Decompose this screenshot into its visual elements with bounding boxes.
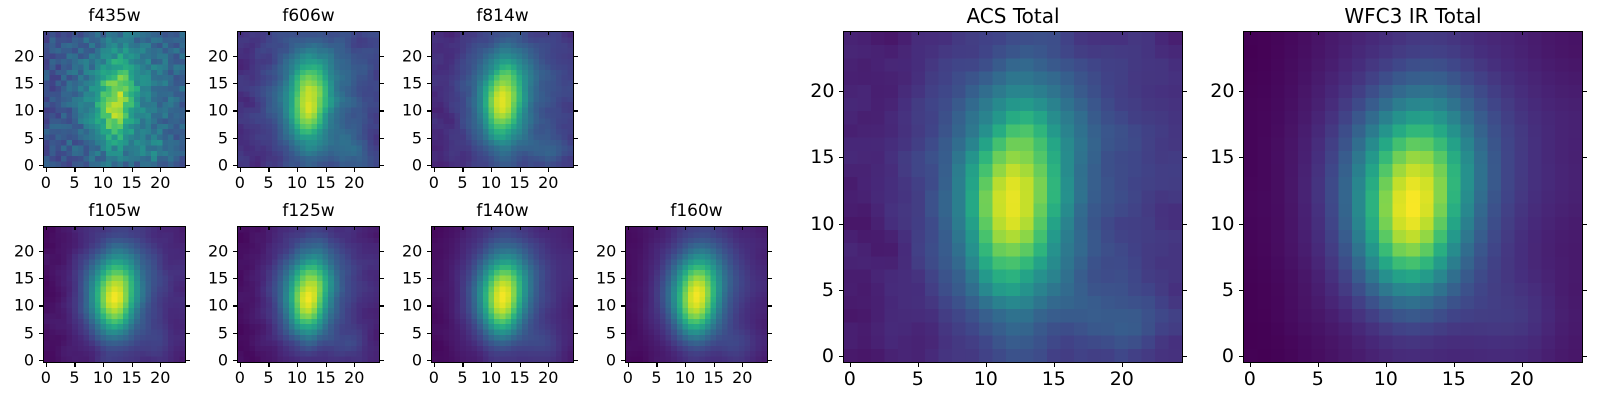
xticklabel-f814w-15: 15 (509, 173, 529, 192)
ytick-right-f125w-5 (380, 333, 384, 334)
ytick-right-f435w-10 (186, 110, 190, 111)
ytick-f814w-15 (427, 83, 431, 84)
xticklabel-f814w-20: 20 (538, 173, 558, 192)
ytick-f814w-10 (427, 110, 431, 111)
panel-title-wfc3-ir-total: WFC3 IR Total (1243, 4, 1583, 28)
ytick-right-f160w-10 (768, 305, 772, 306)
xtick-top-f435w-10 (103, 31, 104, 35)
xticklabel-f140w-10: 10 (481, 368, 501, 387)
yticklabel-f125w-15: 15 (208, 269, 228, 288)
xticklabel-f814w-10: 10 (481, 173, 501, 192)
figure-canvas: f435w0055101015152020f606w00551010151520… (0, 0, 1600, 400)
ytick-f606w-5 (233, 138, 237, 139)
panel-title-f606w: f606w (237, 6, 380, 26)
yticklabel-f125w-10: 10 (208, 296, 228, 315)
xtick-top-f105w-0 (46, 226, 47, 230)
ytick-right-f814w-20 (574, 56, 578, 57)
yticklabel-f105w-5: 5 (14, 323, 34, 342)
axes-f125w[interactable] (237, 226, 380, 363)
xticklabel-f160w-10: 10 (675, 368, 695, 387)
ytick-right-acs-total-10 (1183, 224, 1187, 225)
ytick-right-acs-total-15 (1183, 157, 1187, 158)
xtick-f125w-5 (268, 363, 269, 367)
xtick-top-f140w-0 (434, 226, 435, 230)
yticklabel-f606w-20: 20 (208, 46, 228, 65)
xtick-f105w-15 (132, 363, 133, 367)
xtick-top-f606w-0 (240, 31, 241, 35)
xtick-top-acs-total-0 (850, 31, 851, 35)
ytick-right-wfc3-ir-total-0 (1583, 356, 1587, 357)
xticklabel-f435w-5: 5 (69, 173, 79, 192)
ytick-f140w-0 (427, 360, 431, 361)
yticklabel-wfc3-ir-total-15: 15 (1210, 146, 1234, 168)
ytick-f140w-10 (427, 305, 431, 306)
ytick-f105w-20 (39, 251, 43, 252)
xtick-top-f140w-15 (520, 226, 521, 230)
xticklabel-f814w-5: 5 (457, 173, 467, 192)
yticklabel-f435w-15: 15 (14, 74, 34, 93)
ytick-right-f105w-10 (186, 305, 190, 306)
xtick-top-f140w-5 (462, 226, 463, 230)
xtick-top-f606w-15 (326, 31, 327, 35)
xticklabel-f140w-0: 0 (429, 368, 439, 387)
yticklabel-f606w-15: 15 (208, 74, 228, 93)
xtick-top-f105w-5 (74, 226, 75, 230)
axes-f140w[interactable] (431, 226, 574, 363)
ytick-right-wfc3-ir-total-10 (1583, 224, 1587, 225)
ytick-f140w-15 (427, 278, 431, 279)
ytick-right-f435w-15 (186, 83, 190, 84)
panel-f160w: f160w0055101015152020 (0, 0, 1600, 400)
xtick-top-f160w-5 (656, 226, 657, 230)
ytick-acs-total-5 (839, 290, 843, 291)
axes-f160w[interactable] (625, 226, 768, 363)
panel-title-f105w: f105w (43, 201, 186, 221)
xtick-f105w-20 (160, 363, 161, 367)
yticklabel-f814w-0: 0 (402, 156, 422, 175)
xtick-f140w-0 (434, 363, 435, 367)
xtick-top-wfc3-ir-total-15 (1454, 31, 1455, 35)
xtick-top-wfc3-ir-total-0 (1250, 31, 1251, 35)
ytick-wfc3-ir-total-10 (1239, 224, 1243, 225)
xtick-top-acs-total-15 (1054, 31, 1055, 35)
xtick-top-f814w-5 (462, 31, 463, 35)
xticklabel-wfc3-ir-total-5: 5 (1312, 368, 1324, 390)
ytick-f160w-15 (621, 278, 625, 279)
axes-f814w[interactable] (431, 31, 574, 168)
yticklabel-f105w-20: 20 (14, 241, 34, 260)
ytick-right-f606w-10 (380, 110, 384, 111)
ytick-acs-total-0 (839, 356, 843, 357)
panel-wfc3-ir-total: WFC3 IR Total0055101015152020 (0, 0, 1600, 400)
yticklabel-f606w-5: 5 (208, 128, 228, 147)
ytick-f125w-0 (233, 360, 237, 361)
ytick-f105w-0 (39, 360, 43, 361)
xtick-f435w-20 (160, 168, 161, 172)
xtick-top-f814w-0 (434, 31, 435, 35)
xtick-f125w-20 (354, 363, 355, 367)
xtick-f814w-20 (548, 168, 549, 172)
ytick-f814w-0 (427, 165, 431, 166)
xtick-wfc3-ir-total-20 (1522, 363, 1523, 367)
ytick-acs-total-20 (839, 91, 843, 92)
xticklabel-f160w-20: 20 (732, 368, 752, 387)
xticklabel-f105w-10: 10 (93, 368, 113, 387)
xtick-f125w-10 (297, 363, 298, 367)
xtick-f435w-5 (74, 168, 75, 172)
yticklabel-f606w-0: 0 (208, 156, 228, 175)
heatmap-f606w (238, 32, 379, 167)
xticklabel-f140w-15: 15 (509, 368, 529, 387)
ytick-f435w-0 (39, 165, 43, 166)
panel-title-f435w: f435w (43, 6, 186, 26)
xtick-acs-total-0 (850, 363, 851, 367)
xticklabel-f435w-0: 0 (41, 173, 51, 192)
ytick-right-f140w-15 (574, 278, 578, 279)
xtick-top-f160w-0 (628, 226, 629, 230)
xtick-f140w-20 (548, 363, 549, 367)
heatmap-f125w (238, 227, 379, 362)
yticklabel-f435w-0: 0 (14, 156, 34, 175)
xtick-top-wfc3-ir-total-10 (1386, 31, 1387, 35)
xtick-f125w-15 (326, 363, 327, 367)
xtick-f814w-0 (434, 168, 435, 172)
heatmap-f140w (432, 227, 573, 362)
panel-acs-total: ACS Total0055101015152020 (0, 0, 1600, 400)
ytick-f160w-5 (621, 333, 625, 334)
xtick-f140w-15 (520, 363, 521, 367)
xticklabel-f606w-0: 0 (235, 173, 245, 192)
yticklabel-f435w-5: 5 (14, 128, 34, 147)
ytick-right-f140w-5 (574, 333, 578, 334)
xtick-wfc3-ir-total-15 (1454, 363, 1455, 367)
yticklabel-f814w-10: 10 (402, 101, 422, 120)
xtick-acs-total-10 (986, 363, 987, 367)
axes-acs-total[interactable] (843, 31, 1183, 363)
xtick-top-f814w-10 (491, 31, 492, 35)
panel-title-f125w: f125w (237, 201, 380, 221)
xtick-top-f105w-10 (103, 226, 104, 230)
ytick-f606w-20 (233, 56, 237, 57)
xtick-wfc3-ir-total-0 (1250, 363, 1251, 367)
yticklabel-wfc3-ir-total-20: 20 (1210, 80, 1234, 102)
ytick-right-wfc3-ir-total-15 (1583, 157, 1587, 158)
ytick-right-f160w-15 (768, 278, 772, 279)
ytick-f606w-15 (233, 83, 237, 84)
xtick-f160w-20 (742, 363, 743, 367)
ytick-f125w-20 (233, 251, 237, 252)
yticklabel-f814w-15: 15 (402, 74, 422, 93)
xtick-top-acs-total-20 (1122, 31, 1123, 35)
xticklabel-f606w-15: 15 (315, 173, 335, 192)
ytick-right-f435w-5 (186, 138, 190, 139)
yticklabel-f814w-5: 5 (402, 128, 422, 147)
ytick-right-f814w-5 (574, 138, 578, 139)
yticklabel-f140w-10: 10 (402, 296, 422, 315)
ytick-right-f125w-0 (380, 360, 384, 361)
ytick-f606w-10 (233, 110, 237, 111)
xtick-wfc3-ir-total-5 (1318, 363, 1319, 367)
xtick-f606w-20 (354, 168, 355, 172)
xtick-top-f814w-15 (520, 31, 521, 35)
xticklabel-f435w-20: 20 (150, 173, 170, 192)
yticklabel-f814w-20: 20 (402, 46, 422, 65)
yticklabel-wfc3-ir-total-5: 5 (1210, 279, 1234, 301)
ytick-right-f125w-15 (380, 278, 384, 279)
heatmap-wfc3-ir-total (1244, 32, 1582, 362)
xtick-f125w-0 (240, 363, 241, 367)
ytick-right-acs-total-20 (1183, 91, 1187, 92)
xticklabel-f814w-0: 0 (429, 173, 439, 192)
panel-title-f814w: f814w (431, 6, 574, 26)
xtick-top-f606w-20 (354, 31, 355, 35)
xtick-top-f160w-20 (742, 226, 743, 230)
xtick-f435w-10 (103, 168, 104, 172)
yticklabel-f160w-10: 10 (596, 296, 616, 315)
xtick-wfc3-ir-total-10 (1386, 363, 1387, 367)
ytick-f105w-10 (39, 305, 43, 306)
panel-f435w: f435w0055101015152020 (0, 0, 1600, 400)
ytick-f105w-5 (39, 333, 43, 334)
xtick-top-acs-total-10 (986, 31, 987, 35)
panel-f140w: f140w0055101015152020 (0, 0, 1600, 400)
yticklabel-f606w-10: 10 (208, 101, 228, 120)
xticklabel-f105w-15: 15 (121, 368, 141, 387)
xticklabel-f435w-10: 10 (93, 173, 113, 192)
yticklabel-acs-total-10: 10 (810, 213, 834, 235)
yticklabel-acs-total-20: 20 (810, 80, 834, 102)
ytick-wfc3-ir-total-5 (1239, 290, 1243, 291)
ytick-f435w-5 (39, 138, 43, 139)
panel-title-f140w: f140w (431, 201, 574, 221)
xtick-f606w-5 (268, 168, 269, 172)
heatmap-acs-total (844, 32, 1182, 362)
panel-f125w: f125w0055101015152020 (0, 0, 1600, 400)
xtick-top-f435w-0 (46, 31, 47, 35)
xtick-f105w-0 (46, 363, 47, 367)
xticklabel-f606w-10: 10 (287, 173, 307, 192)
xtick-f105w-5 (74, 363, 75, 367)
ytick-f435w-10 (39, 110, 43, 111)
panel-f606w: f606w0055101015152020 (0, 0, 1600, 400)
yticklabel-f140w-0: 0 (402, 351, 422, 370)
xtick-f814w-5 (462, 168, 463, 172)
xticklabel-f435w-15: 15 (121, 173, 141, 192)
xtick-f140w-10 (491, 363, 492, 367)
ytick-f125w-10 (233, 305, 237, 306)
xtick-f160w-0 (628, 363, 629, 367)
xtick-acs-total-15 (1054, 363, 1055, 367)
yticklabel-acs-total-5: 5 (810, 279, 834, 301)
xticklabel-f125w-15: 15 (315, 368, 335, 387)
xtick-top-f435w-15 (132, 31, 133, 35)
xticklabel-f140w-5: 5 (457, 368, 467, 387)
ytick-acs-total-10 (839, 224, 843, 225)
yticklabel-f125w-20: 20 (208, 241, 228, 260)
xticklabel-wfc3-ir-total-10: 10 (1374, 368, 1398, 390)
xticklabel-acs-total-5: 5 (912, 368, 924, 390)
ytick-right-f140w-0 (574, 360, 578, 361)
xtick-top-f105w-15 (132, 226, 133, 230)
ytick-right-f606w-5 (380, 138, 384, 139)
axes-wfc3-ir-total[interactable] (1243, 31, 1583, 363)
xtick-f105w-10 (103, 363, 104, 367)
yticklabel-f105w-0: 0 (14, 351, 34, 370)
xticklabel-f105w-5: 5 (69, 368, 79, 387)
ytick-right-f140w-20 (574, 251, 578, 252)
ytick-wfc3-ir-total-15 (1239, 157, 1243, 158)
xticklabel-acs-total-10: 10 (974, 368, 998, 390)
xticklabel-f125w-0: 0 (235, 368, 245, 387)
xtick-f814w-15 (520, 168, 521, 172)
xtick-f606w-10 (297, 168, 298, 172)
ytick-right-acs-total-5 (1183, 290, 1187, 291)
ytick-right-f140w-10 (574, 305, 578, 306)
yticklabel-f140w-15: 15 (402, 269, 422, 288)
panel-f105w: f105w0055101015152020 (0, 0, 1600, 400)
xtick-top-f435w-20 (160, 31, 161, 35)
xtick-f814w-10 (491, 168, 492, 172)
xtick-top-f160w-10 (685, 226, 686, 230)
yticklabel-f160w-15: 15 (596, 269, 616, 288)
ytick-f140w-5 (427, 333, 431, 334)
xtick-top-f606w-5 (268, 31, 269, 35)
xtick-top-f105w-20 (160, 226, 161, 230)
xtick-top-f435w-5 (74, 31, 75, 35)
xticklabel-f140w-20: 20 (538, 368, 558, 387)
ytick-right-f814w-0 (574, 165, 578, 166)
ytick-f160w-20 (621, 251, 625, 252)
axes-f435w[interactable] (43, 31, 186, 168)
xticklabel-f160w-0: 0 (623, 368, 633, 387)
ytick-f435w-15 (39, 83, 43, 84)
xticklabel-acs-total-15: 15 (1042, 368, 1066, 390)
xtick-f606w-0 (240, 168, 241, 172)
yticklabel-f435w-20: 20 (14, 46, 34, 65)
ytick-right-f105w-15 (186, 278, 190, 279)
yticklabel-wfc3-ir-total-0: 0 (1210, 345, 1234, 367)
ytick-f105w-15 (39, 278, 43, 279)
yticklabel-f125w-0: 0 (208, 351, 228, 370)
xticklabel-f105w-0: 0 (41, 368, 51, 387)
ytick-right-f105w-0 (186, 360, 190, 361)
ytick-f140w-20 (427, 251, 431, 252)
xtick-f435w-15 (132, 168, 133, 172)
ytick-wfc3-ir-total-20 (1239, 91, 1243, 92)
ytick-right-f435w-0 (186, 165, 190, 166)
xtick-top-f125w-15 (326, 226, 327, 230)
xticklabel-f125w-5: 5 (263, 368, 273, 387)
yticklabel-f160w-0: 0 (596, 351, 616, 370)
xtick-acs-total-20 (1122, 363, 1123, 367)
ytick-right-wfc3-ir-total-5 (1583, 290, 1587, 291)
xticklabel-f160w-15: 15 (703, 368, 723, 387)
xtick-top-acs-total-5 (918, 31, 919, 35)
xtick-f160w-15 (714, 363, 715, 367)
yticklabel-f160w-20: 20 (596, 241, 616, 260)
xticklabel-acs-total-20: 20 (1110, 368, 1134, 390)
ytick-right-f160w-0 (768, 360, 772, 361)
xtick-top-f125w-20 (354, 226, 355, 230)
xticklabel-f105w-20: 20 (150, 368, 170, 387)
xticklabel-f606w-20: 20 (344, 173, 364, 192)
xtick-acs-total-5 (918, 363, 919, 367)
ytick-right-wfc3-ir-total-20 (1583, 91, 1587, 92)
heatmap-f435w (44, 32, 185, 167)
yticklabel-acs-total-0: 0 (810, 345, 834, 367)
xtick-f435w-0 (46, 168, 47, 172)
xtick-f160w-5 (656, 363, 657, 367)
heatmap-f814w (432, 32, 573, 167)
xtick-top-f140w-10 (491, 226, 492, 230)
ytick-f606w-0 (233, 165, 237, 166)
yticklabel-f435w-10: 10 (14, 101, 34, 120)
panel-title-f160w: f160w (625, 201, 768, 221)
ytick-right-f606w-15 (380, 83, 384, 84)
xticklabel-wfc3-ir-total-15: 15 (1442, 368, 1466, 390)
ytick-acs-total-15 (839, 157, 843, 158)
ytick-f814w-20 (427, 56, 431, 57)
yticklabel-f160w-5: 5 (596, 323, 616, 342)
ytick-right-f435w-20 (186, 56, 190, 57)
xticklabel-wfc3-ir-total-20: 20 (1510, 368, 1534, 390)
yticklabel-acs-total-15: 15 (810, 146, 834, 168)
xticklabel-f606w-5: 5 (263, 173, 273, 192)
ytick-right-f606w-20 (380, 56, 384, 57)
xticklabel-f125w-20: 20 (344, 368, 364, 387)
axes-f105w[interactable] (43, 226, 186, 363)
ytick-f160w-0 (621, 360, 625, 361)
xtick-f160w-10 (685, 363, 686, 367)
xtick-f606w-15 (326, 168, 327, 172)
yticklabel-wfc3-ir-total-10: 10 (1210, 213, 1234, 235)
yticklabel-f105w-15: 15 (14, 269, 34, 288)
ytick-f435w-20 (39, 56, 43, 57)
ytick-right-f814w-15 (574, 83, 578, 84)
xtick-top-f160w-15 (714, 226, 715, 230)
ytick-right-f125w-10 (380, 305, 384, 306)
xticklabel-f160w-5: 5 (651, 368, 661, 387)
heatmap-f105w (44, 227, 185, 362)
xtick-top-f606w-10 (297, 31, 298, 35)
ytick-right-f160w-5 (768, 333, 772, 334)
panel-title-acs-total: ACS Total (843, 4, 1183, 28)
ytick-right-f105w-5 (186, 333, 190, 334)
xtick-top-f125w-10 (297, 226, 298, 230)
ytick-f125w-5 (233, 333, 237, 334)
xticklabel-wfc3-ir-total-0: 0 (1244, 368, 1256, 390)
xtick-top-f140w-20 (548, 226, 549, 230)
xtick-top-f125w-5 (268, 226, 269, 230)
yticklabel-f140w-20: 20 (402, 241, 422, 260)
yticklabel-f140w-5: 5 (402, 323, 422, 342)
yticklabel-f125w-5: 5 (208, 323, 228, 342)
ytick-right-f125w-20 (380, 251, 384, 252)
xtick-f140w-5 (462, 363, 463, 367)
xtick-top-wfc3-ir-total-20 (1522, 31, 1523, 35)
xticklabel-f125w-10: 10 (287, 368, 307, 387)
heatmap-f160w (626, 227, 767, 362)
ytick-right-f105w-20 (186, 251, 190, 252)
ytick-right-f160w-20 (768, 251, 772, 252)
ytick-wfc3-ir-total-0 (1239, 356, 1243, 357)
xtick-top-f814w-20 (548, 31, 549, 35)
yticklabel-f105w-10: 10 (14, 296, 34, 315)
xtick-top-f125w-0 (240, 226, 241, 230)
axes-f606w[interactable] (237, 31, 380, 168)
ytick-f814w-5 (427, 138, 431, 139)
ytick-right-f814w-10 (574, 110, 578, 111)
